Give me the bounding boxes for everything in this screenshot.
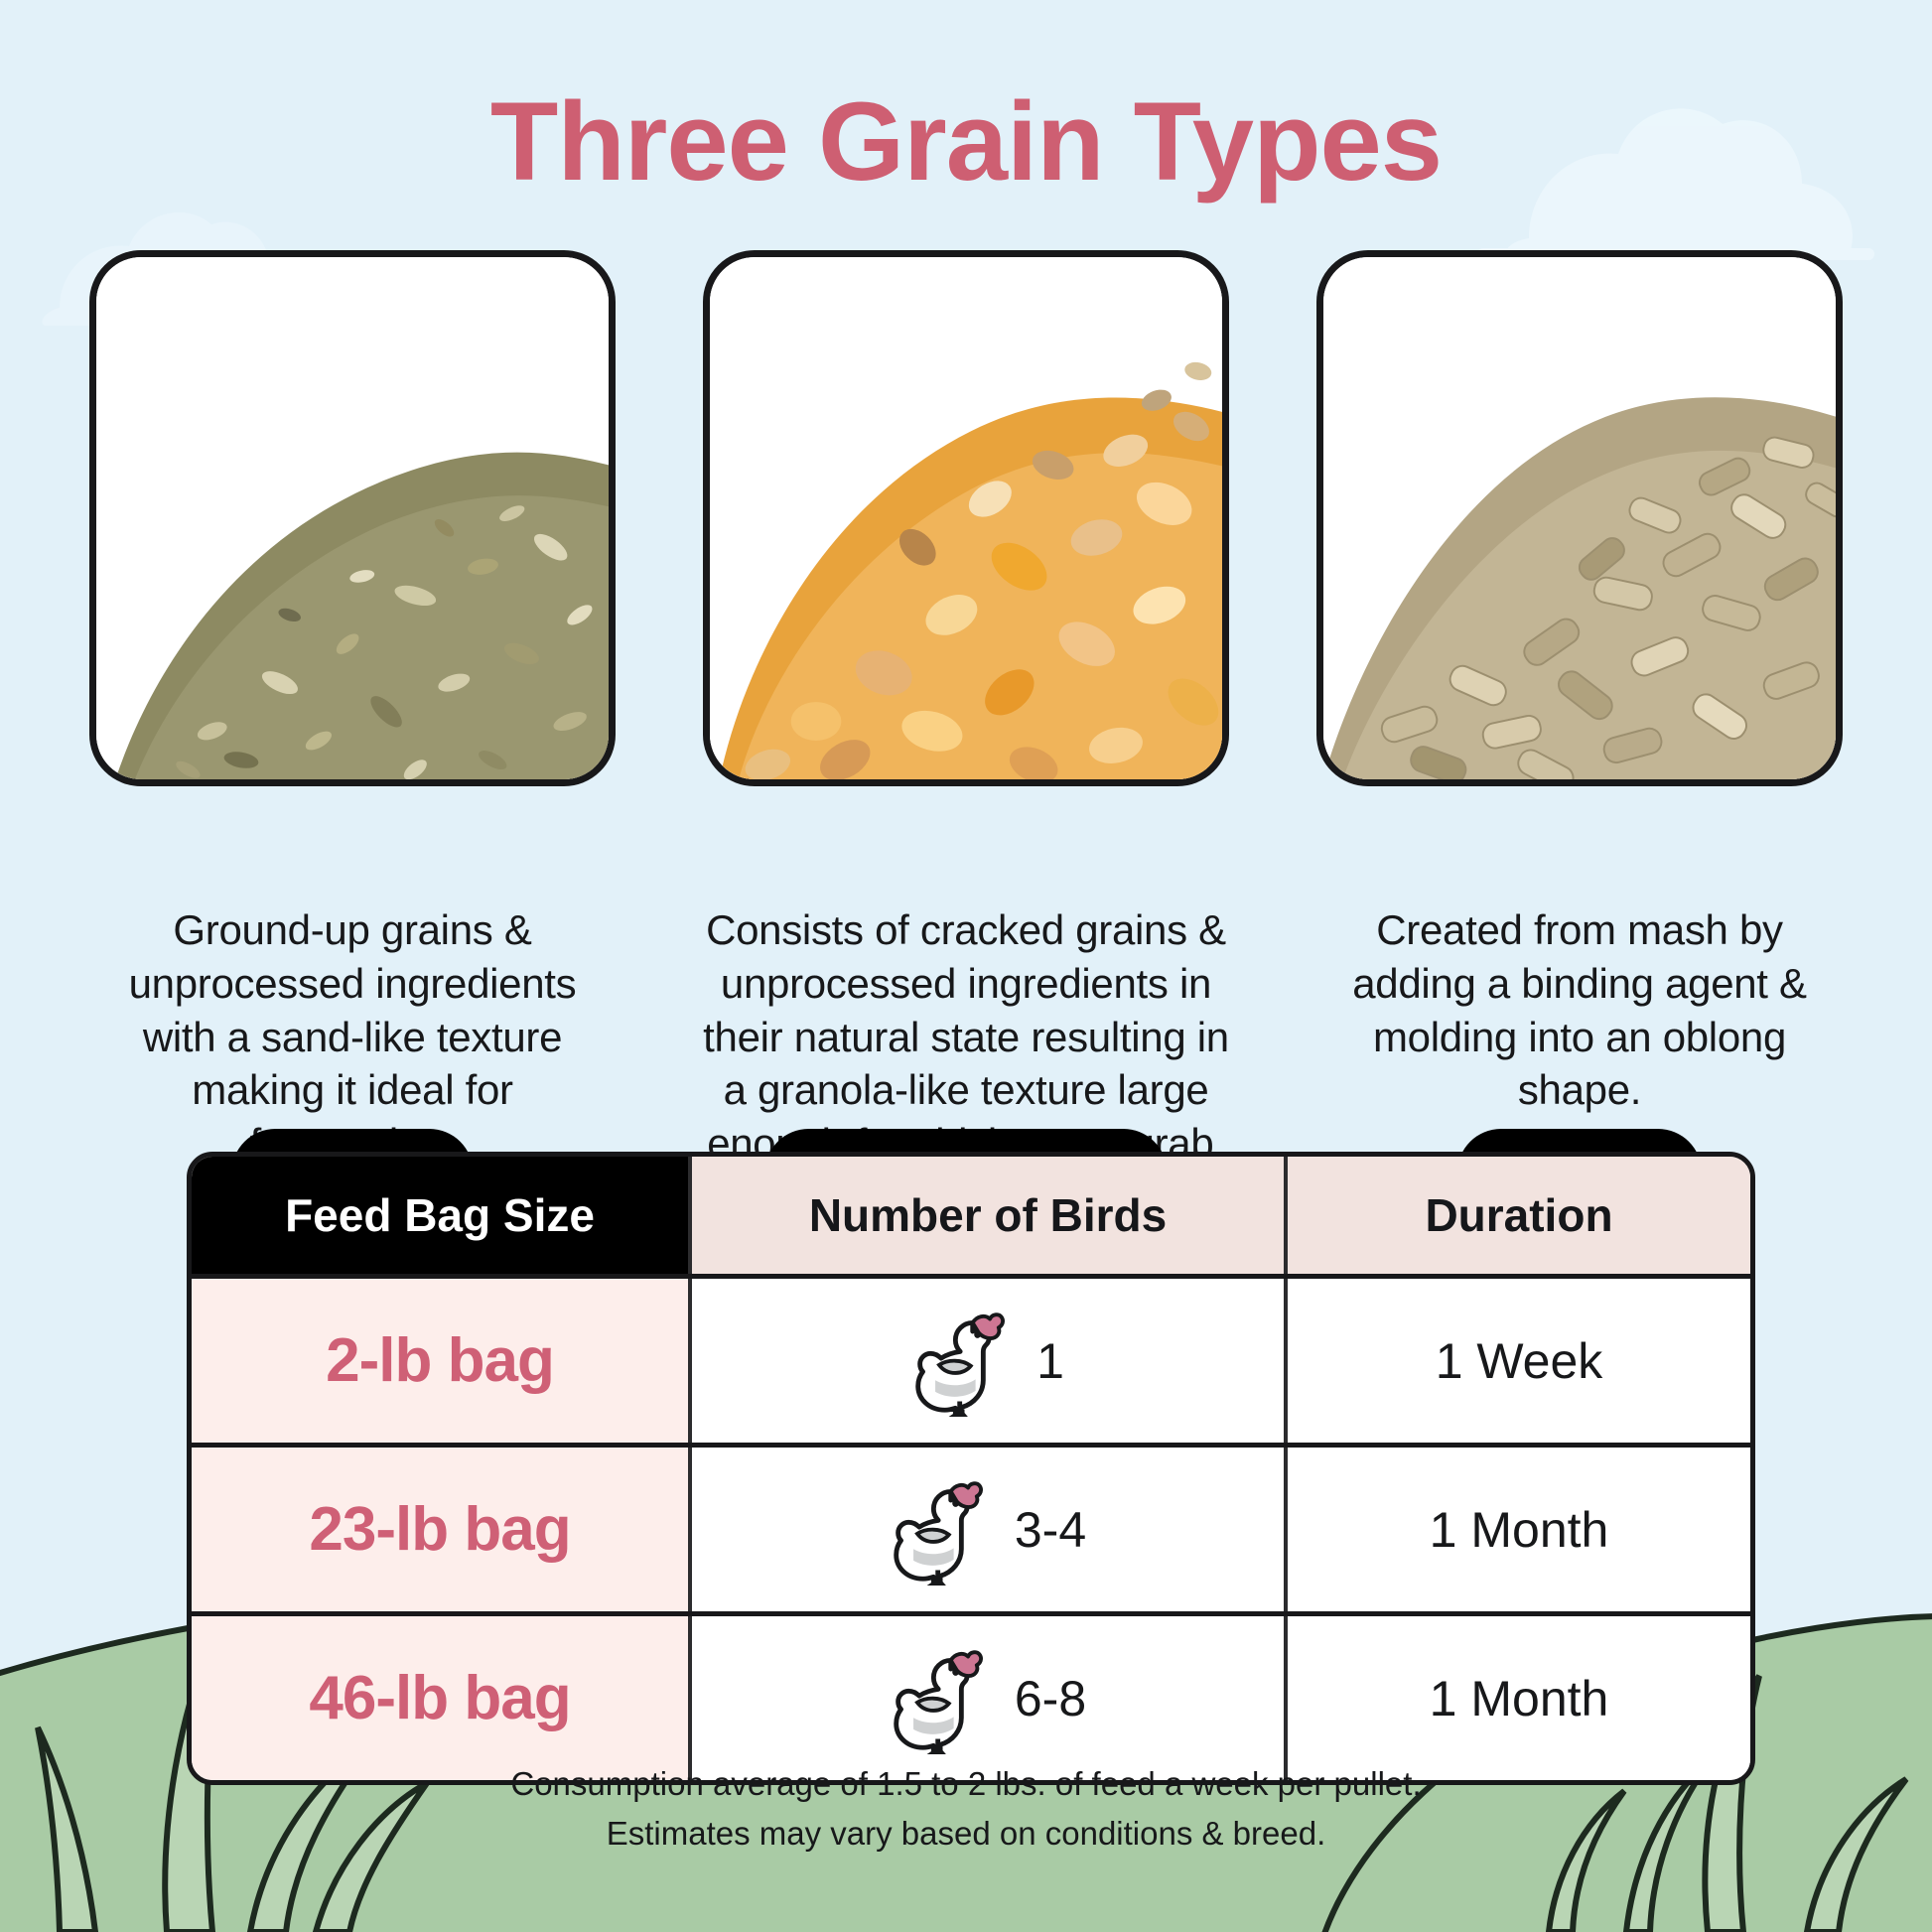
chicken-icon xyxy=(890,1474,997,1586)
footnote-line-2: Estimates may vary based on conditions &… xyxy=(0,1809,1932,1859)
mash-feed-photo xyxy=(96,257,609,779)
footnote-line-1: Consumption average of 1.5 to 2 lbs. of … xyxy=(0,1759,1932,1809)
card-mash: Mash Ground-up grains & unprocessed ingr… xyxy=(89,250,616,1171)
table-row: 2-lb bag 1 1 Week xyxy=(192,1274,1750,1443)
cell-bag-size: 2-lb bag xyxy=(192,1279,688,1443)
header-feed-bag-size: Feed Bag Size xyxy=(192,1157,688,1274)
table-row: 46-lb bag 6-8 1 Month xyxy=(192,1611,1750,1780)
grain-type-cards: Mash Ground-up grains & unprocessed ingr… xyxy=(89,250,1843,1171)
pellet-photo-frame xyxy=(1316,250,1843,786)
birds-count: 1 xyxy=(1036,1332,1064,1390)
table-header-row: Feed Bag Size Number of Birds Duration xyxy=(192,1157,1750,1274)
card-whole-grain: Whole Grain Consists of cracked grains &… xyxy=(703,250,1229,1171)
card-pellet: Pellet Created from mash by adding a bin… xyxy=(1316,250,1843,1171)
whole-grain-feed-photo xyxy=(710,257,1222,779)
cell-duration: 1 Week xyxy=(1284,1279,1750,1443)
table-row: 23-lb bag 3-4 1 Month xyxy=(192,1443,1750,1611)
cell-duration: 1 Month xyxy=(1284,1616,1750,1780)
footnote: Consumption average of 1.5 to 2 lbs. of … xyxy=(0,1759,1932,1858)
cell-duration: 1 Month xyxy=(1284,1448,1750,1611)
birds-count: 6-8 xyxy=(1015,1670,1086,1727)
chicken-icon xyxy=(911,1306,1019,1417)
mash-photo-frame xyxy=(89,250,616,786)
cell-number-of-birds: 6-8 xyxy=(688,1616,1284,1780)
cell-bag-size: 46-lb bag xyxy=(192,1616,688,1780)
cell-number-of-birds: 1 xyxy=(688,1279,1284,1443)
page-title: Three Grain Types xyxy=(0,77,1932,206)
whole-grain-photo-frame xyxy=(703,250,1229,786)
header-duration: Duration xyxy=(1284,1157,1750,1274)
feed-bag-table: Feed Bag Size Number of Birds Duration 2… xyxy=(187,1152,1755,1785)
cell-bag-size: 23-lb bag xyxy=(192,1448,688,1611)
pellet-feed-photo xyxy=(1323,257,1836,779)
birds-count: 3-4 xyxy=(1015,1501,1086,1559)
chicken-icon xyxy=(890,1643,997,1754)
cell-number-of-birds: 3-4 xyxy=(688,1448,1284,1611)
header-number-of-birds: Number of Birds xyxy=(688,1157,1284,1274)
description-pellet: Created from mash by adding a binding ag… xyxy=(1316,903,1843,1117)
